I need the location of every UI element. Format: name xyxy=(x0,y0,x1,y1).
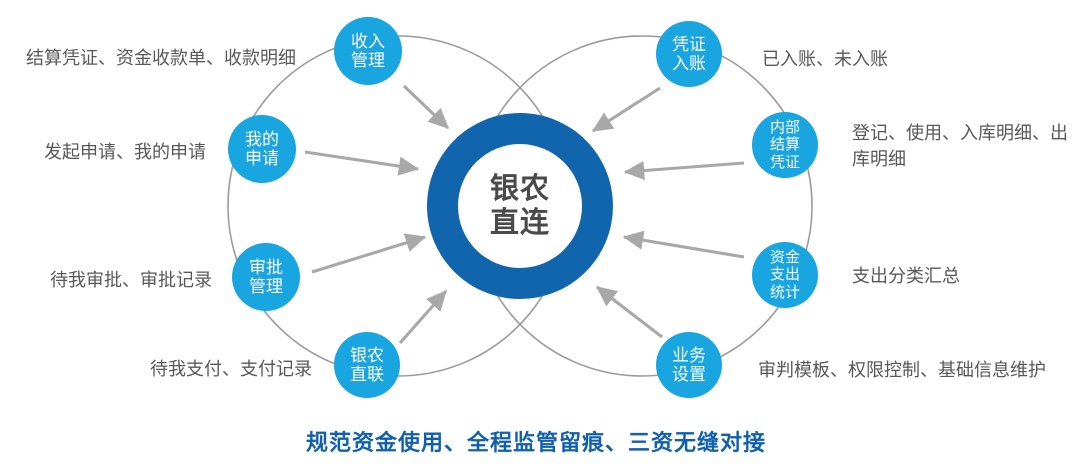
caption-bank-direct-link: 待我支付、支付记录 xyxy=(0,356,312,382)
arrow-expenditure-to-hub xyxy=(624,237,744,257)
node-line: 审批 xyxy=(249,258,283,277)
node-line: 凭证 xyxy=(672,35,706,54)
caption-business-setting: 审判模板、权限控制、基础信息维护 xyxy=(758,357,1046,383)
node-line: 资金 xyxy=(770,249,800,266)
node-line: 入账 xyxy=(672,54,706,73)
caption-fund-expenditure-statistics: 支出分类汇总 xyxy=(852,263,960,289)
caption-approval-management: 待我审批、审批记录 xyxy=(0,267,212,293)
node-line: 管理 xyxy=(351,51,385,70)
node-line: 管理 xyxy=(249,277,283,296)
center-hub-label: 银农 直连 xyxy=(458,144,582,268)
center-hub: 银农 直连 xyxy=(427,113,613,299)
node-voucher-entry[interactable]: 凭证 入账 xyxy=(656,21,722,87)
node-business-setting[interactable]: 业务 设置 xyxy=(656,332,722,398)
arrow-income-to-hub xyxy=(404,86,448,128)
caption-income-management: 结算凭证、资金收款单、收款明细 xyxy=(0,45,296,71)
arrow-voucher-to-hub xyxy=(593,88,660,131)
node-line: 收入 xyxy=(351,32,385,51)
node-line: 业务 xyxy=(672,346,706,365)
node-my-application[interactable]: 我的 申请 xyxy=(228,115,296,183)
node-bank-direct-link[interactable]: 银农 直联 xyxy=(334,332,400,398)
node-line: 支出 xyxy=(770,266,800,283)
node-line: 申请 xyxy=(245,149,279,168)
caption-voucher-entry: 已入账、未入账 xyxy=(762,46,888,72)
caption-internal-settlement-voucher: 登记、使用、入库明细、出库明细 xyxy=(852,120,1072,172)
arrow-payment-to-hub xyxy=(400,291,446,343)
node-line: 统计 xyxy=(770,284,800,301)
node-line: 结算 xyxy=(770,136,800,153)
caption-my-application: 发起申请、我的申请 xyxy=(0,139,206,165)
arrow-apply-to-hub xyxy=(305,152,418,169)
node-income-management[interactable]: 收入 管理 xyxy=(334,17,402,85)
hub-title-line-1: 银农 xyxy=(490,172,550,206)
node-line: 我的 xyxy=(245,130,279,149)
diagram-canvas: 银农 直连 收入 管理 结算凭证、资金收款单、收款明细 我的 申请 发起申请、我… xyxy=(0,0,1072,471)
node-line: 内部 xyxy=(770,119,800,136)
node-fund-expenditure-statistics[interactable]: 资金 支出 统计 xyxy=(752,242,818,308)
node-line: 凭证 xyxy=(770,154,800,171)
hub-title-line-2: 直连 xyxy=(490,206,550,240)
node-line: 银农 xyxy=(350,346,384,365)
arrow-setting-to-hub xyxy=(597,287,662,337)
node-internal-settlement-voucher[interactable]: 内部 结算 凭证 xyxy=(752,112,818,178)
node-approval-management[interactable]: 审批 管理 xyxy=(232,243,300,311)
node-line: 设置 xyxy=(672,365,706,384)
arrow-settlement-to-hub xyxy=(625,163,744,172)
arrow-approval-to-hub xyxy=(312,237,425,272)
footer-caption: 规范资金使用、全程监管留痕、三资无缝对接 xyxy=(0,425,1072,457)
node-line: 直联 xyxy=(350,365,384,384)
